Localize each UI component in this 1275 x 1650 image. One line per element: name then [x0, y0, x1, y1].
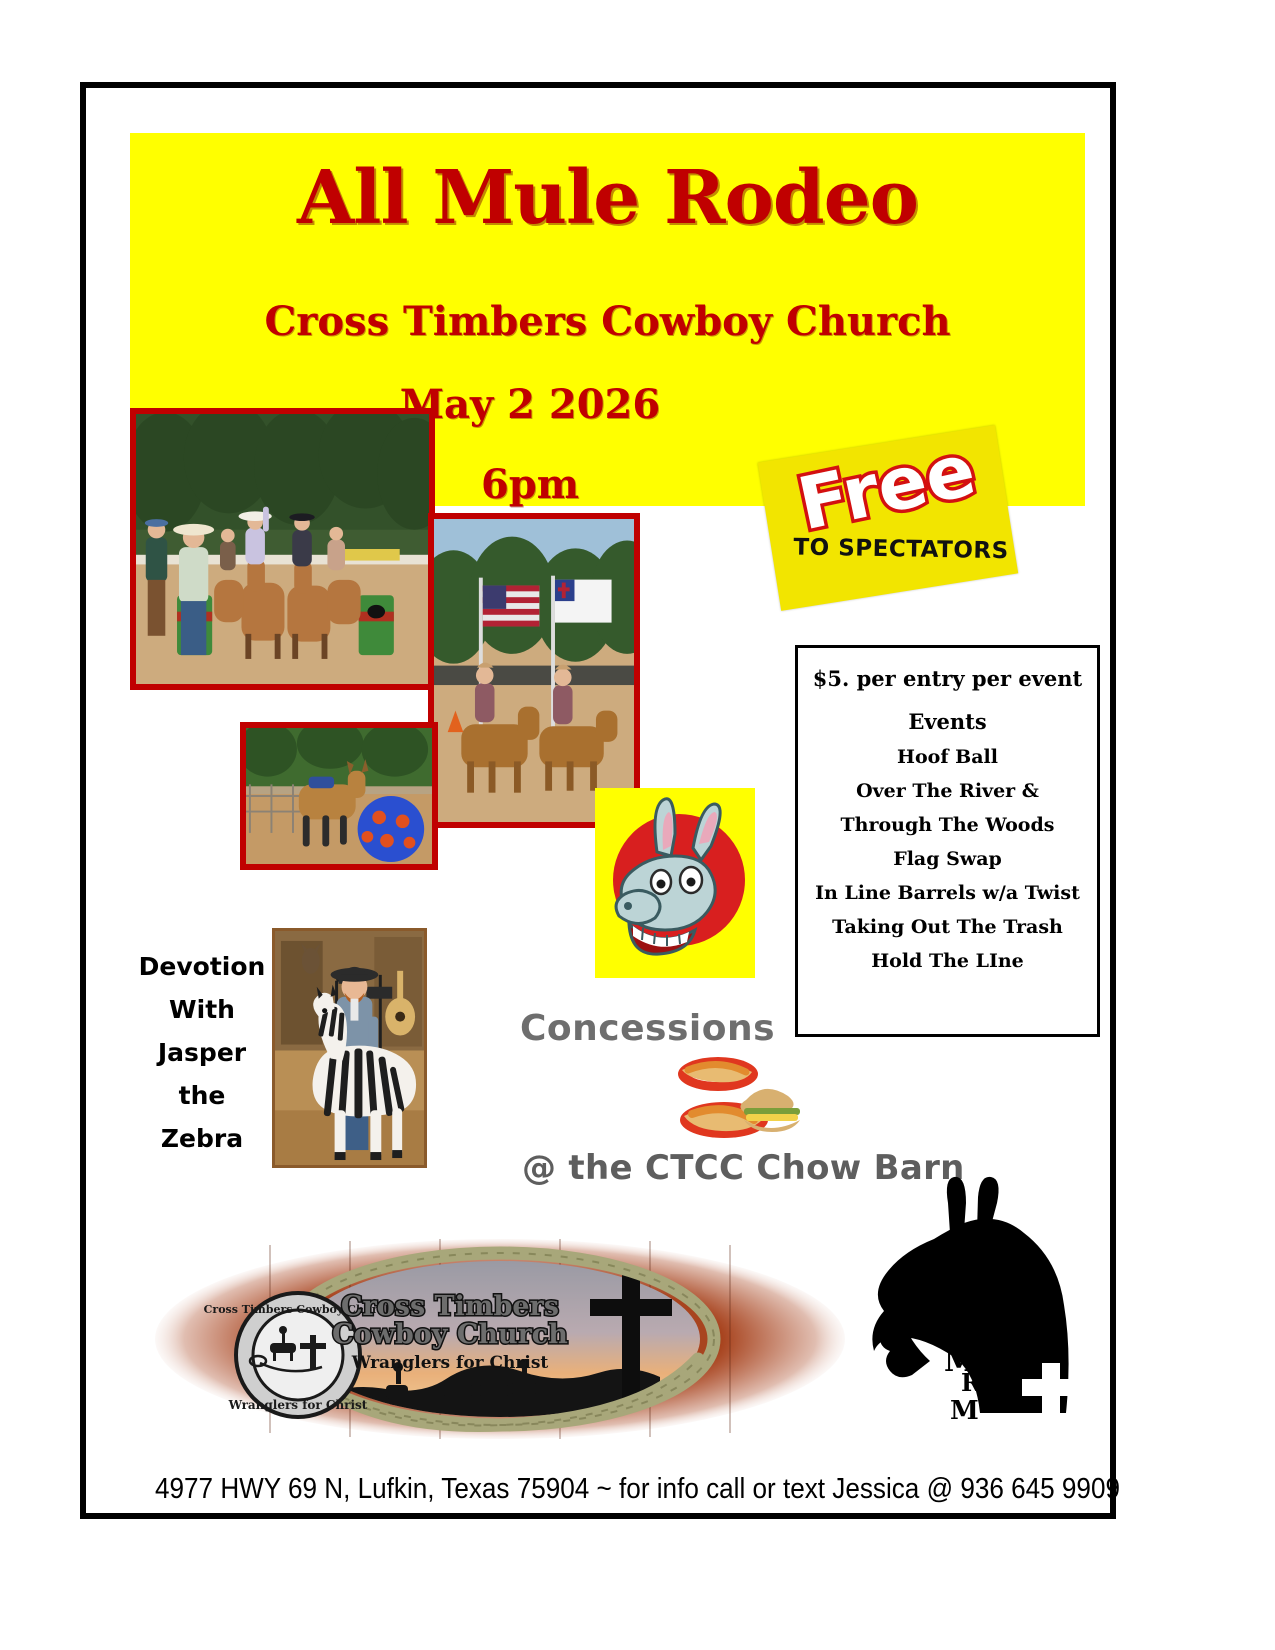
- mule-mark-letter-m2: M: [950, 1396, 979, 1426]
- entry-fee-text: $5. per entry per event: [798, 666, 1097, 691]
- mule-mark-letter-r: R: [961, 1368, 982, 1397]
- mrm-mule-mark-image: M R M: [862, 1175, 1097, 1440]
- photo-jasper-zebra: [272, 928, 427, 1168]
- photo-jasper-zebra-image: [275, 931, 424, 1165]
- devotion-line: Jasper: [128, 1031, 276, 1074]
- event-item: Flag Swap: [798, 848, 1097, 870]
- photo-flag-riders-image: [434, 519, 634, 822]
- events-heading: Events: [798, 709, 1097, 734]
- photo-group-riders: [130, 408, 435, 690]
- church-logo: Cross Timbers Cowboy Church Wranglers fo…: [150, 1237, 850, 1442]
- event-item: Taking Out The Trash: [798, 916, 1097, 938]
- devotion-line: Devotion: [128, 945, 276, 988]
- church-logo-image: Cross Timbers Cowboy Church Wranglers fo…: [150, 1237, 850, 1442]
- hotdog-burger-icon: [660, 1046, 805, 1146]
- food-clipart: [660, 1046, 805, 1146]
- free-badge-subtext: TO SPECTATORS: [791, 534, 1011, 564]
- church-name: Cross Timbers Cowboy Church: [130, 298, 1085, 345]
- event-item: Through The Woods: [798, 814, 1097, 836]
- mule-cartoon-logo: [595, 788, 755, 978]
- photo-hoof-ball-image: [246, 728, 432, 864]
- logo-line-2: Cowboy Church: [332, 1319, 568, 1350]
- devotion-line: With: [128, 988, 276, 1031]
- devotion-line: Zebra: [128, 1117, 276, 1160]
- events-box: $5. per entry per event Events Hoof Ball…: [795, 645, 1100, 1037]
- devotion-text-block: Devotion With Jasper the Zebra: [128, 945, 276, 1160]
- event-item: Hold The LIne: [798, 950, 1097, 972]
- event-item: Hoof Ball: [798, 746, 1097, 768]
- event-item: Over The River &: [798, 780, 1097, 802]
- logo-line-3: Wranglers for Christ: [351, 1353, 549, 1373]
- logo-line-1: Cross Timbers: [341, 1291, 559, 1322]
- event-item: In Line Barrels w/a Twist: [798, 882, 1097, 904]
- mule-cartoon-image: [595, 788, 755, 978]
- photo-group-riders-image: [136, 414, 429, 684]
- devotion-line: the: [128, 1074, 276, 1117]
- seal-bottom-text: Wranglers for Christ: [228, 1398, 368, 1412]
- footer-contact-line: 4977 HWY 69 N, Lufkin, Texas 75904 ~ for…: [64, 1473, 1212, 1506]
- mrm-mule-mark: M R M: [862, 1175, 1097, 1440]
- photo-flag-riders: [428, 513, 640, 828]
- page-title: All Mule Rodeo: [130, 155, 1085, 241]
- concessions-title: Concessions: [520, 1008, 775, 1049]
- photo-hoof-ball: [240, 722, 438, 870]
